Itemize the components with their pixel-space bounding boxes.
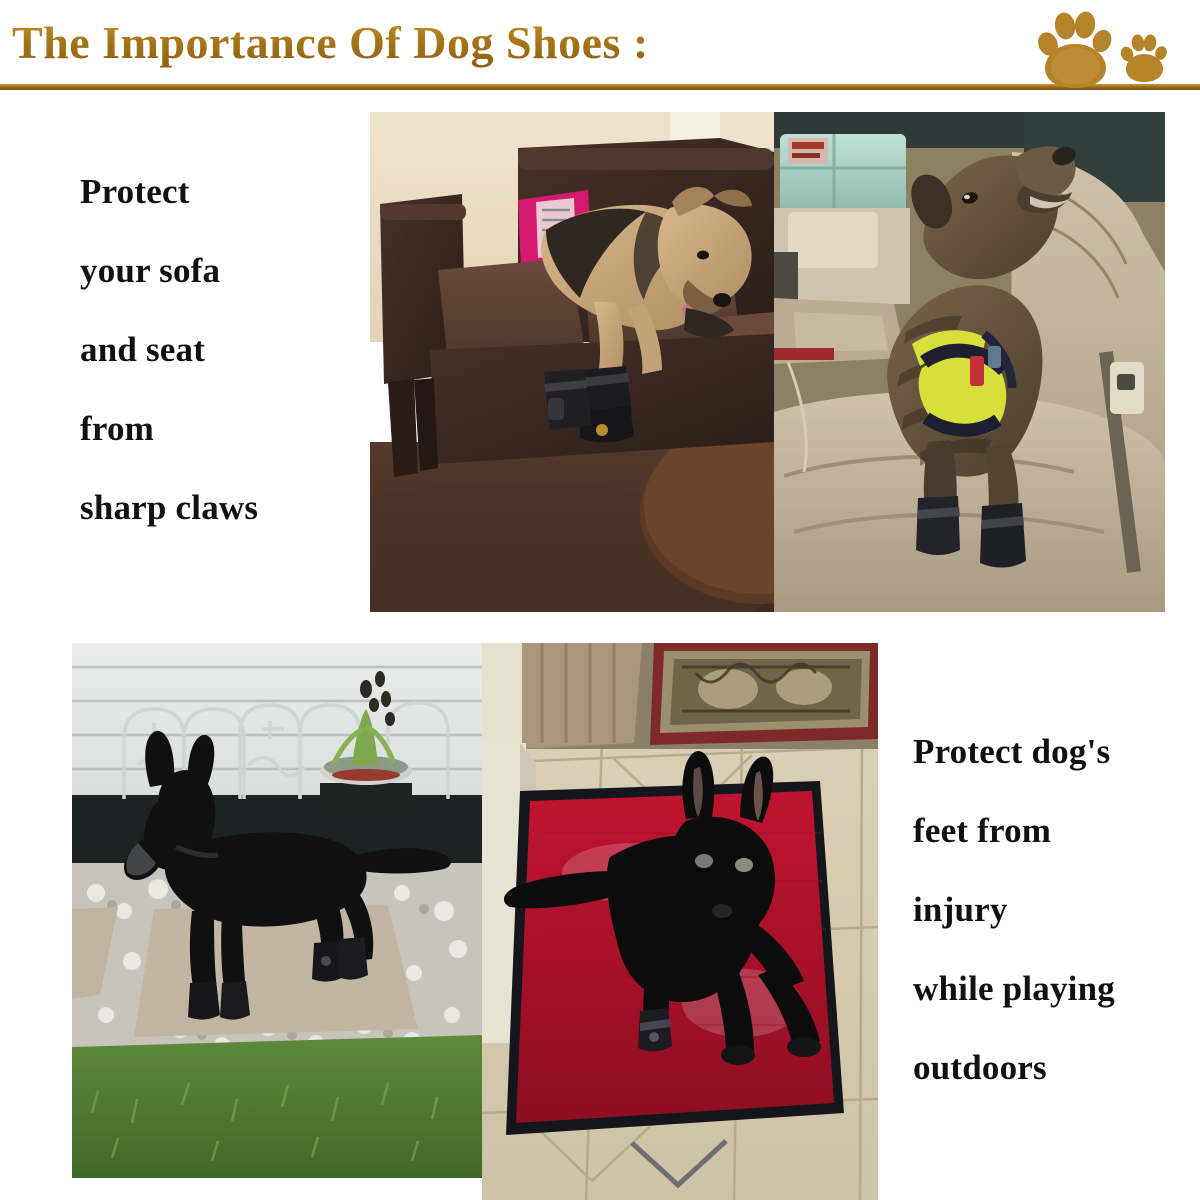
caption-line: your sofa xyxy=(80,231,360,310)
caption-line: while playing xyxy=(913,949,1198,1028)
caption-line: feet from xyxy=(913,791,1198,870)
paw-print-small-icon xyxy=(1120,32,1168,84)
caption-line: Protect dog's xyxy=(913,712,1198,791)
photo-dog-in-yard xyxy=(72,643,482,1178)
protect-feet-caption: Protect dog's feet from injury while pla… xyxy=(913,712,1198,1107)
caption-line: sharp claws xyxy=(80,468,360,547)
photo-dog-on-sofa xyxy=(370,112,774,612)
photo-dog-on-red-rug xyxy=(482,643,878,1200)
caption-line: outdoors xyxy=(913,1028,1198,1107)
photo-dog-in-car xyxy=(774,112,1165,612)
paw-print-large-icon xyxy=(1036,8,1114,90)
page-header: The Importance Of Dog Shoes : xyxy=(0,0,1200,95)
caption-line: Protect xyxy=(80,152,360,231)
protect-sofa-caption: Protect your sofa and seat from sharp cl… xyxy=(80,152,360,547)
caption-line: and seat xyxy=(80,310,360,389)
paw-print-icon-group xyxy=(1016,4,1186,90)
page-title: The Importance Of Dog Shoes : xyxy=(12,16,649,69)
caption-line: from xyxy=(80,389,360,468)
caption-line: injury xyxy=(913,870,1198,949)
